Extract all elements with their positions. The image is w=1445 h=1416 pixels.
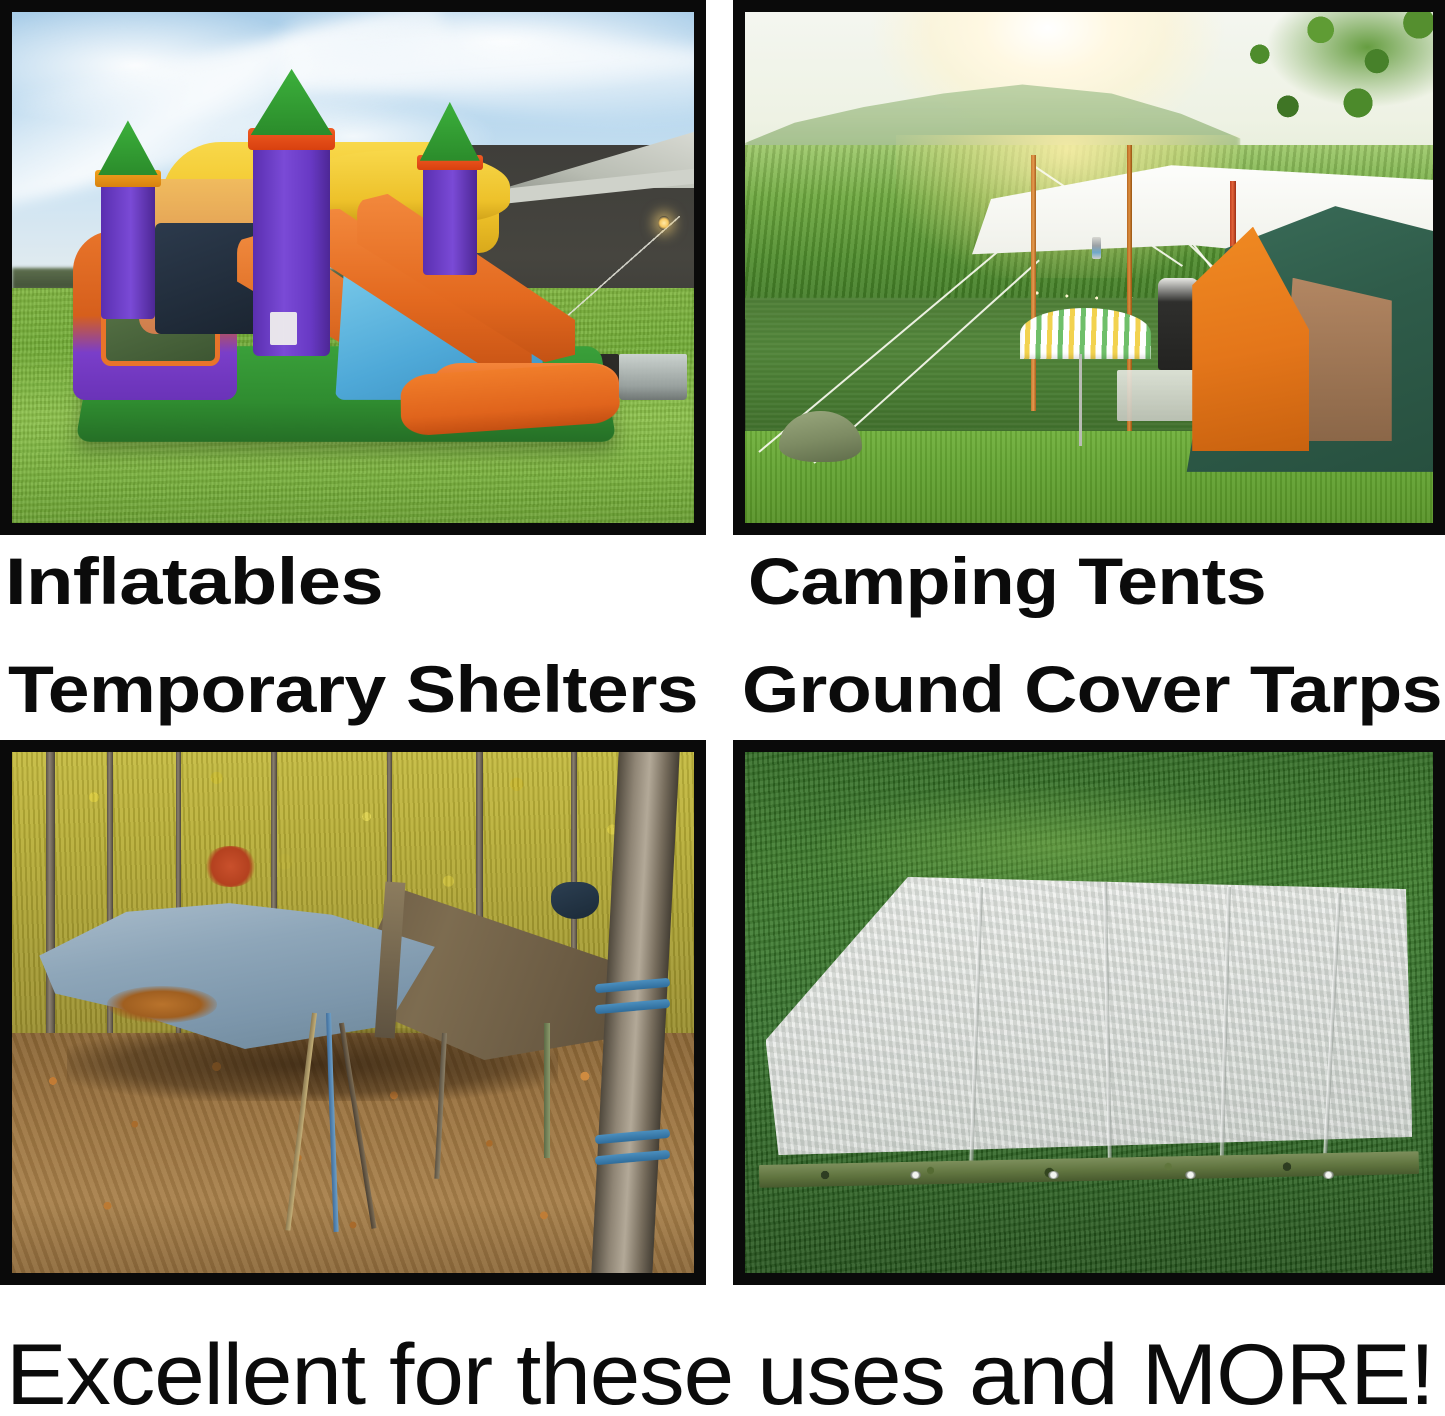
bounce-house-left-wall xyxy=(73,231,237,400)
slide-rail-right xyxy=(357,194,575,385)
photo-inflatables-image xyxy=(12,12,694,523)
mossy-rock xyxy=(779,411,862,462)
slide-rail-left xyxy=(237,231,433,400)
porch-light-icon xyxy=(658,216,670,230)
guy-line-2 xyxy=(813,259,1039,463)
support-stick xyxy=(434,1033,447,1179)
support-pole-green xyxy=(544,1023,550,1158)
support-pole-blue xyxy=(326,1012,339,1231)
tower-center-spire-icon xyxy=(251,69,333,135)
tree-trunk xyxy=(176,752,181,1039)
camo-hem-edge xyxy=(759,1151,1420,1188)
tree-trunk xyxy=(46,752,55,1158)
photo-camping-tents xyxy=(733,0,1445,535)
guy-line-4 xyxy=(1130,186,1250,302)
tower-right-cap xyxy=(417,155,482,170)
support-stick xyxy=(285,1012,317,1230)
guy-line-5 xyxy=(1171,217,1266,338)
tree-trunk xyxy=(107,752,113,1075)
leaf-debris-on-tarp xyxy=(107,986,216,1022)
label-inflatables: Inflatables xyxy=(5,548,383,614)
tagline: Excellent for these uses and MORE! xyxy=(6,1332,1434,1416)
blue-rope-lashing xyxy=(595,978,671,994)
tower-right-spire-icon xyxy=(420,102,480,161)
lawn-highlight xyxy=(814,783,1296,908)
tarp-fold-crease xyxy=(969,887,983,1168)
dark-container xyxy=(578,354,619,405)
shelter-shadow xyxy=(67,1028,558,1101)
blue-rope-lashing xyxy=(595,1129,671,1145)
lake-water xyxy=(745,298,1433,441)
lawn-grass xyxy=(12,288,694,523)
bounce-house-yellow-arch xyxy=(292,150,510,224)
camper-gear xyxy=(1158,278,1199,370)
safety-tag xyxy=(270,312,297,345)
autumn-canopy xyxy=(12,752,694,1075)
sun-glare xyxy=(896,135,1240,278)
grommet-icon xyxy=(1185,1171,1196,1179)
guy-line-6 xyxy=(1350,278,1433,371)
tarp-pole-center xyxy=(1127,145,1132,431)
tree-trunk xyxy=(476,752,483,1054)
hanging-gear-bag xyxy=(551,882,599,918)
tarp-pole-left xyxy=(1031,155,1036,411)
photo-temporary-shelters xyxy=(0,740,706,1285)
sunrise-sky xyxy=(745,12,1433,278)
base-orange-trim xyxy=(400,362,622,437)
tent-orange-flap xyxy=(1192,227,1309,452)
photo-camping-tents-image xyxy=(745,12,1433,523)
string-lights xyxy=(1020,278,1233,304)
bounce-house-mesh-window xyxy=(101,267,220,365)
buckets xyxy=(619,354,687,400)
forest-band xyxy=(745,145,1433,319)
tarp-pole-right xyxy=(1230,181,1236,467)
photo-ground-cover-tarps xyxy=(733,740,1445,1285)
grommet-icon xyxy=(910,1171,921,1179)
silver-tarp xyxy=(766,877,1413,1179)
cloud-streak-secondary xyxy=(282,12,694,131)
distant-hill xyxy=(745,73,1240,185)
tree-trunk xyxy=(271,752,277,1013)
support-stick xyxy=(339,1023,377,1230)
slide-lane xyxy=(335,275,542,400)
lantern-icon xyxy=(1092,237,1101,259)
photo-inflatables xyxy=(0,0,706,535)
label-camping-tents: Camping Tents xyxy=(748,548,1266,614)
utility-wire xyxy=(530,216,680,349)
guy-line-1 xyxy=(758,248,1002,453)
tarp-fold-crease xyxy=(1219,887,1230,1168)
tower-left xyxy=(101,179,156,319)
photo-ground-cover-tarps-image xyxy=(745,752,1433,1273)
dirt-strip xyxy=(12,290,367,310)
tent-body xyxy=(1165,206,1433,472)
house-wall xyxy=(469,145,694,349)
tarp-ridge-line xyxy=(375,882,406,1039)
tower-right xyxy=(423,164,478,274)
foreground-tree-trunk xyxy=(591,752,681,1273)
tower-left-cap xyxy=(95,170,160,187)
slide-end-bumper xyxy=(433,363,619,422)
tower-left-spire-icon xyxy=(98,120,158,175)
shoreline-grass xyxy=(745,431,1433,523)
forest-floor-leaves xyxy=(12,1033,694,1273)
umbrella-pole xyxy=(1079,354,1082,446)
guy-line-3 xyxy=(1033,165,1182,267)
house-eave xyxy=(462,168,694,208)
cloud-streak xyxy=(12,12,461,207)
infographic-page: Inflatables Camping Tents Temporary Shel… xyxy=(0,0,1445,1416)
tower-center xyxy=(253,135,329,356)
distant-treeline xyxy=(12,268,367,299)
tree-trunk xyxy=(387,752,392,1002)
red-foliage-patch xyxy=(203,846,258,888)
tent-interior xyxy=(1282,278,1392,442)
bounce-house-entrance xyxy=(155,223,275,333)
sky xyxy=(12,12,694,308)
bounce-house-base xyxy=(76,346,617,442)
grommet-icon xyxy=(1323,1171,1334,1179)
bounce-house xyxy=(73,84,619,452)
label-temporary-shelters: Temporary Shelters xyxy=(8,656,698,722)
house-roof xyxy=(462,127,694,188)
tarp-canopy xyxy=(972,165,1433,318)
photo-temporary-shelters-image xyxy=(12,752,694,1273)
grommet-icon xyxy=(1048,1171,1059,1179)
slide-rail-mid xyxy=(303,209,532,393)
blue-rope-lashing xyxy=(595,1150,671,1166)
tarp-blue-side xyxy=(39,903,435,1049)
tarp-fold-crease xyxy=(1323,893,1341,1153)
grass-lawn xyxy=(745,752,1433,1273)
bounce-house-yellow-canopy xyxy=(161,142,499,252)
tarp-fold-crease xyxy=(1103,882,1112,1179)
overhanging-tree xyxy=(1213,12,1433,176)
blue-rope-lashing xyxy=(595,999,671,1015)
striped-umbrella xyxy=(1020,308,1151,359)
camp-table xyxy=(1117,370,1227,421)
tower-center-cap xyxy=(248,128,335,150)
tarp-brown-side xyxy=(346,887,660,1075)
tree-trunk xyxy=(571,752,577,1085)
label-ground-cover-tarps: Ground Cover Tarps xyxy=(742,656,1442,722)
bounce-house-front-panel xyxy=(139,179,303,334)
